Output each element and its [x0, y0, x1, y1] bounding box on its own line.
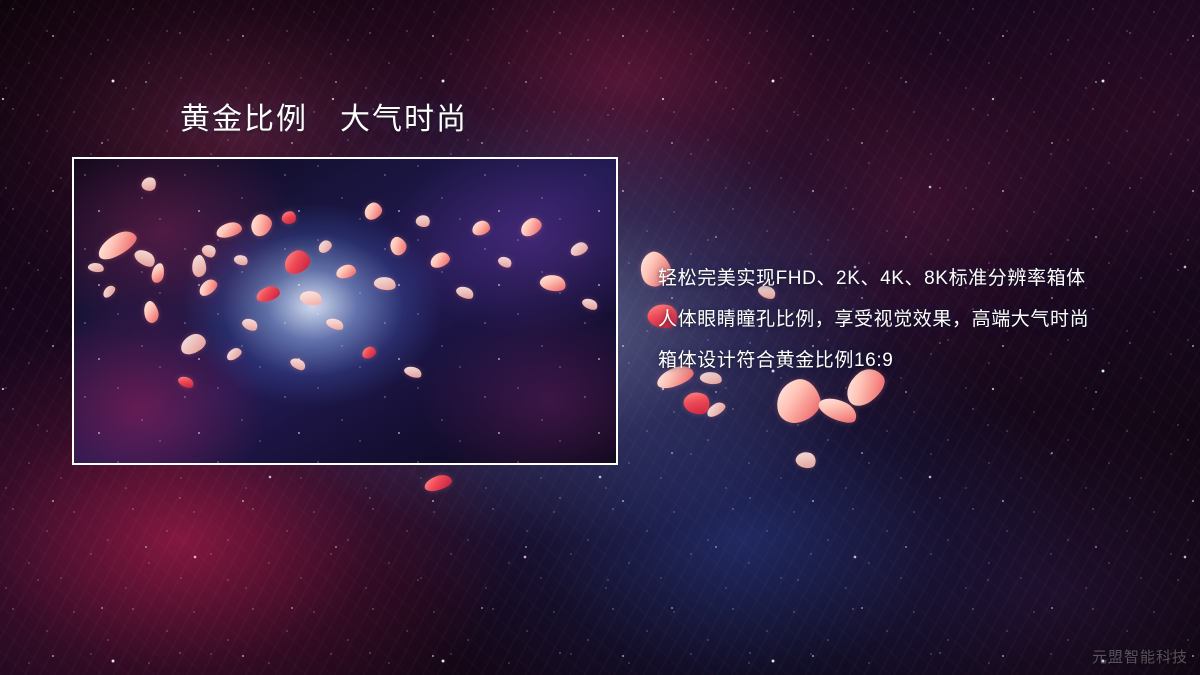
body-line-1: 轻松完美实现FHD、2K、4K、8K标准分辨率箱体	[658, 258, 1158, 299]
framed-photo	[72, 157, 618, 465]
watermark: 元盟智能科技	[1092, 646, 1188, 667]
page-title: 黄金比例 大气时尚	[180, 103, 468, 137]
body-line-2: 人体眼睛瞳孔比例，享受视觉效果，高端大气时尚	[658, 299, 1158, 340]
photo-starfield	[74, 159, 616, 463]
body-line-3: 箱体设计符合黄金比例16:9	[658, 340, 1158, 381]
body-copy: 轻松完美实现FHD、2K、4K、8K标准分辨率箱体 人体眼睛瞳孔比例，享受视觉效…	[658, 258, 1158, 381]
presentation-slide: 黄金比例 大气时尚	[0, 0, 1200, 675]
